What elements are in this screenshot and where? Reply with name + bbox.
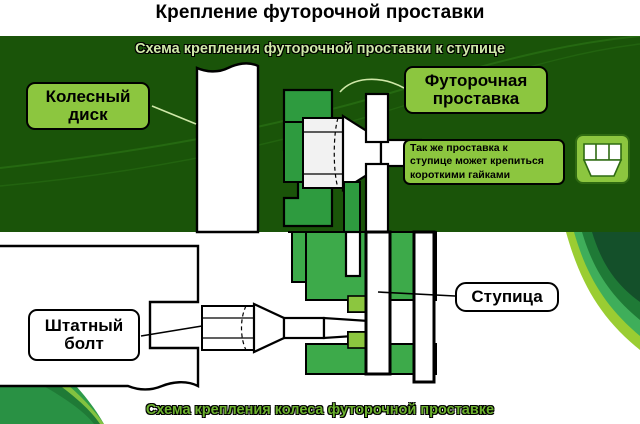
short-nuts-icon-box[interactable] xyxy=(575,134,630,184)
note-line-2: ступице может крепиться xyxy=(410,155,544,167)
callout-futorochnaya-spacer[interactable]: Футорочная проставка xyxy=(404,66,548,114)
spacer-line-2: проставка xyxy=(433,89,519,108)
callout-wheel-disc-text: Колесный диск xyxy=(46,88,131,125)
callout-short-nuts-note[interactable]: Так же проставка к ступице может крепить… xyxy=(403,139,565,185)
top-green-panel: Схема крепления футорочной проставки к с… xyxy=(0,36,640,232)
bottom-panel-caption: Схема крепления колеса футорочной проста… xyxy=(0,402,640,418)
callout-bolt-text: Штатный болт xyxy=(45,317,123,354)
callout-wheel-disc[interactable]: Колесный диск xyxy=(26,82,150,130)
callout-hub[interactable]: Ступица xyxy=(455,282,559,312)
short-nuts-icon xyxy=(577,136,628,182)
note-line-3: короткими гайками xyxy=(410,169,510,181)
callout-spacer-text: Футорочная проставка xyxy=(425,72,528,109)
callout-note-text: Так же проставка к ступице может крепить… xyxy=(410,142,544,181)
note-line-1: Так же проставка к xyxy=(410,142,508,154)
bolt-line-1: Штатный xyxy=(45,316,123,335)
spacer-line-1: Футорочная xyxy=(425,71,528,90)
callout-hub-text: Ступица xyxy=(471,288,542,306)
callout-standard-bolt[interactable]: Штатный болт xyxy=(28,309,140,361)
top-panel-decorative-swoosh xyxy=(0,36,640,232)
page-title: Крепление футорочной проставки xyxy=(0,2,640,24)
wheel-disc-line-2: диск xyxy=(68,105,107,124)
bolt-line-2: болт xyxy=(64,334,104,353)
diagram-page: Крепление футорочной проставки Схема кре… xyxy=(0,0,640,424)
wheel-disc-line-1: Колесный xyxy=(46,87,131,106)
